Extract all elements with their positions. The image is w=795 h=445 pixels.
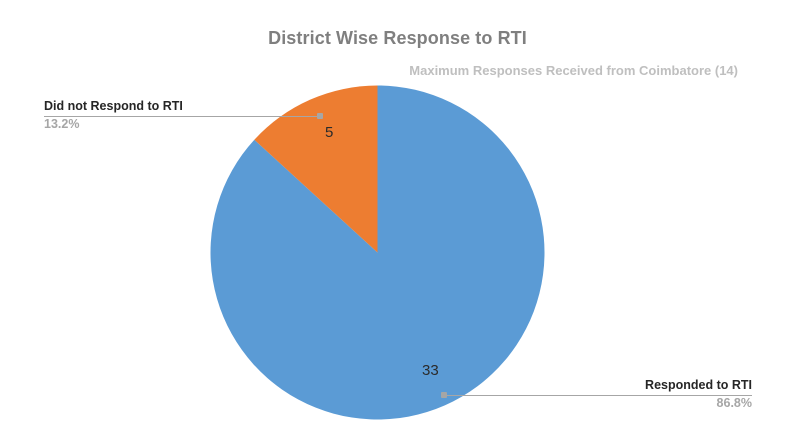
chart-title: District Wise Response to RTI [0,28,795,49]
pie-chart-figure: District Wise Response to RTI Maximum Re… [0,0,795,445]
chart-subtitle: Maximum Responses Received from Coimbato… [409,63,738,78]
slice-value-did-not-respond: 5 [325,124,333,141]
leader-dot-left [317,113,323,119]
callout-right-percent: 86.8% [645,393,752,411]
slice-value-responded: 33 [422,362,439,379]
callout-did-not-respond: Did not Respond to RTI 13.2% [44,99,183,132]
callout-right-category: Responded to RTI [645,378,752,393]
callout-left-percent: 13.2% [44,114,183,132]
callout-responded: Responded to RTI 86.8% [645,378,752,411]
callout-left-category: Did not Respond to RTI [44,99,183,114]
leader-dot-right [441,392,447,398]
pie-graphic [210,85,545,420]
pie-svg [210,85,545,420]
